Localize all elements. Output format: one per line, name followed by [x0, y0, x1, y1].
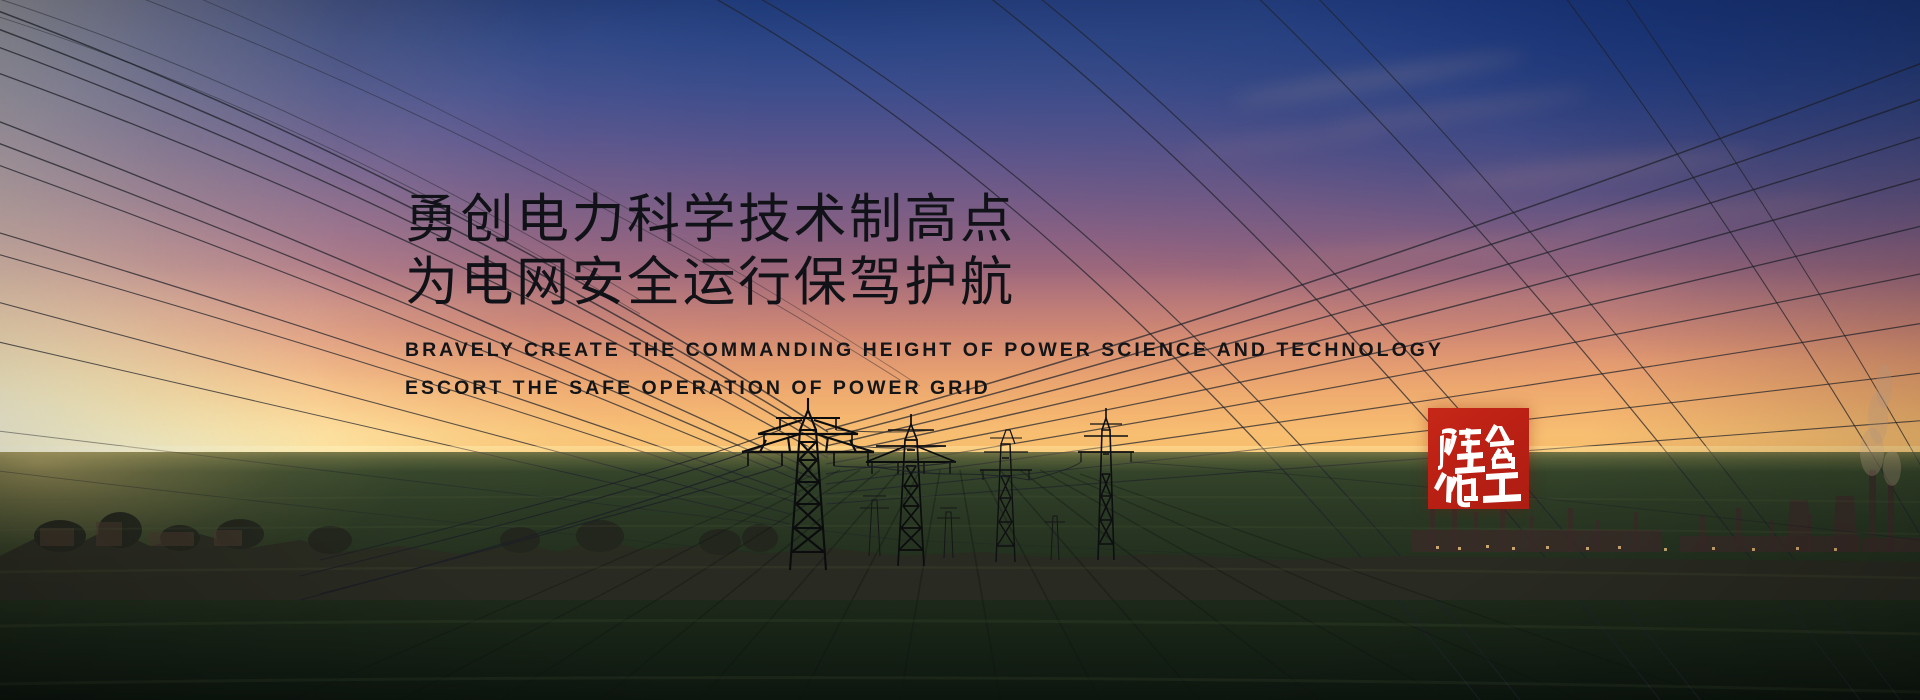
tower-large-left	[742, 398, 874, 570]
company-seal-logo[interactable]	[1428, 408, 1529, 509]
tower-distant-group	[860, 496, 1065, 560]
tower-far-right	[980, 430, 1032, 562]
headline-line-2: 为电网安全运行保驾护航	[405, 251, 1444, 314]
hero-banner: 勇创电力科学技术制高点 为电网安全运行保驾护航 BRAVELY CREATE T…	[0, 0, 1920, 700]
seal-calligraphy	[1428, 408, 1529, 509]
subtitle-line-2: ESCORT THE SAFE OPERATION OF POWER GRID	[405, 369, 1444, 407]
headline-line-1: 勇创电力科学技术制高点	[405, 188, 1444, 251]
subtitle-line-1: BRAVELY CREATE THE COMMANDING HEIGHT OF …	[405, 331, 1444, 369]
tower-tall-slim	[1078, 408, 1134, 560]
banner-copy: 勇创电力科学技术制高点 为电网安全运行保驾护航 BRAVELY CREATE T…	[405, 188, 1444, 407]
